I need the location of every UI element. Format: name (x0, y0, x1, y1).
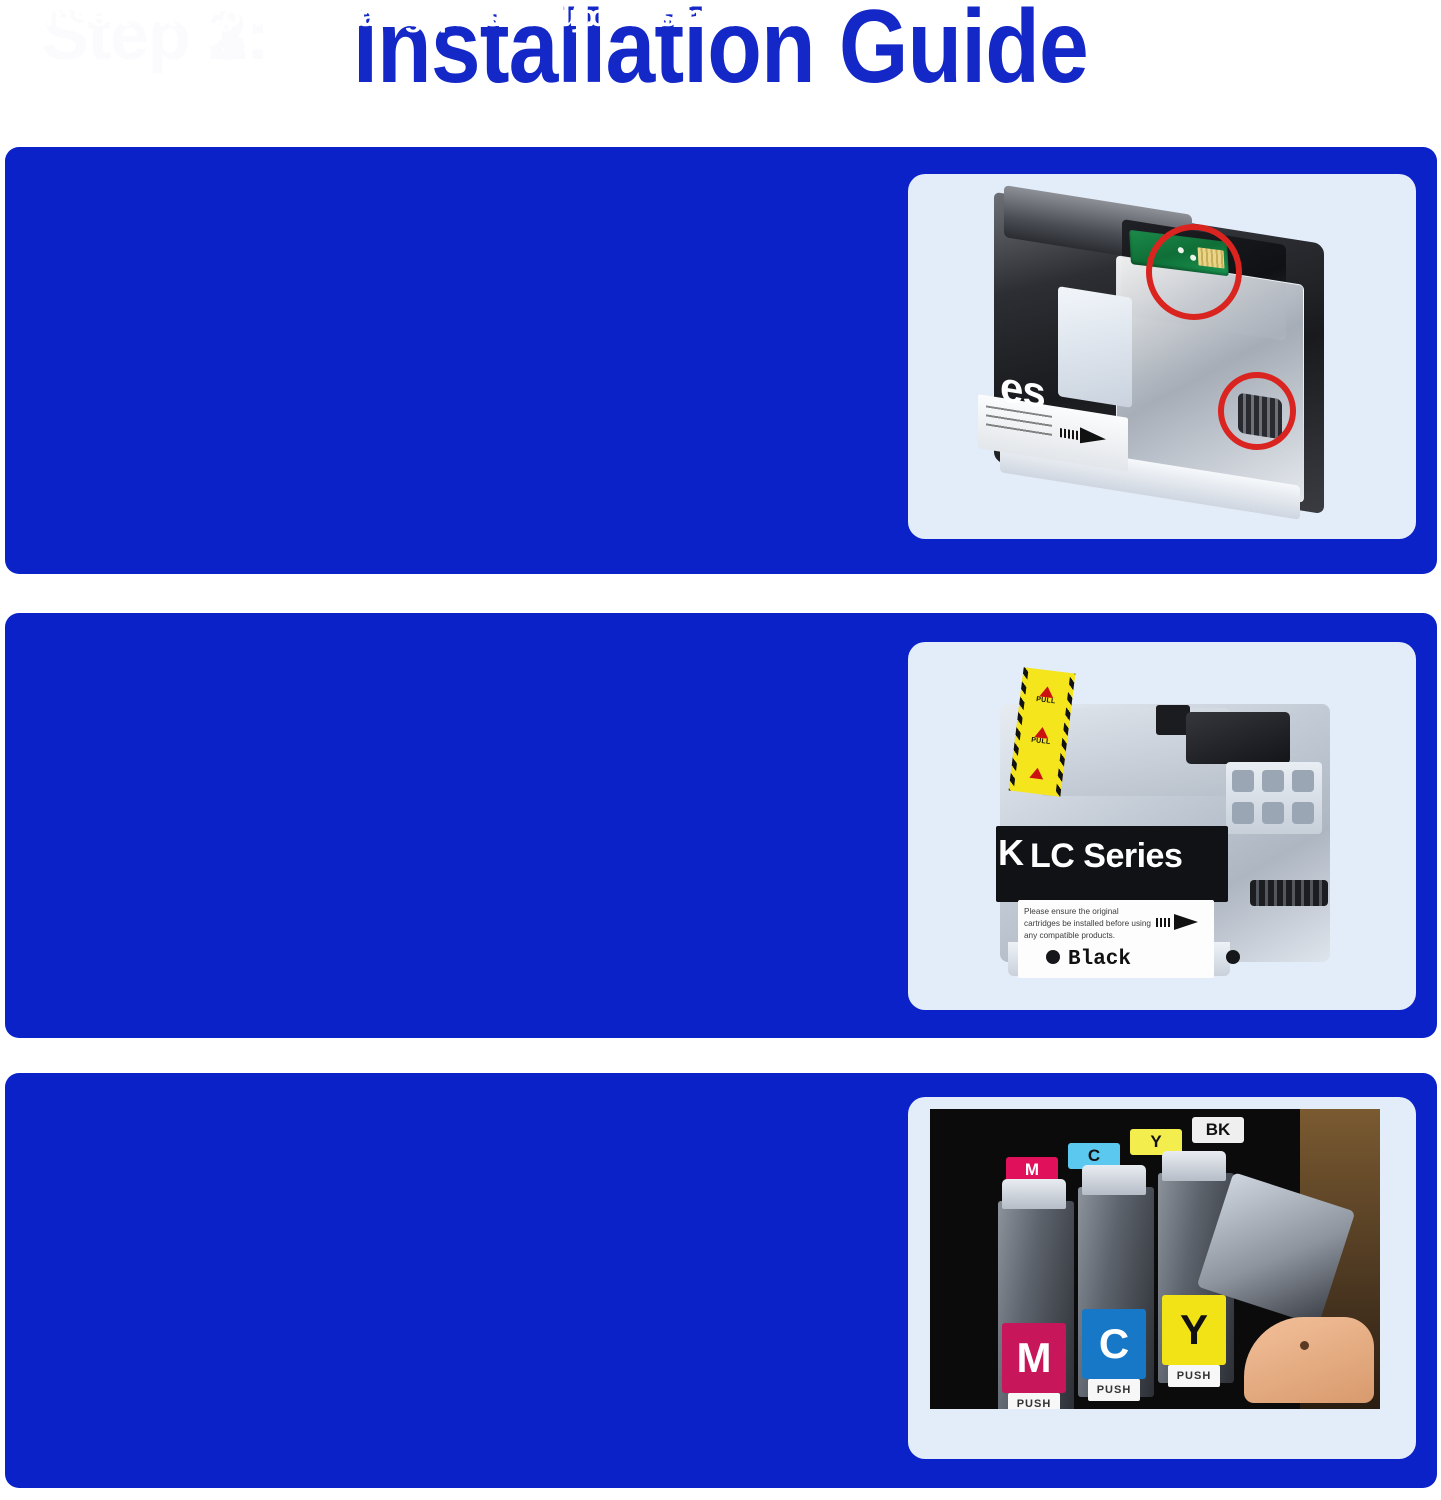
pull-label-1: PULL (1036, 696, 1056, 705)
cartridge-k-mark: K (998, 832, 1024, 874)
cartridge-letter-c: C (1082, 1309, 1146, 1379)
push-label-y: PUSH (1168, 1365, 1220, 1387)
cartridge-magenta: M PUSH (998, 1201, 1074, 1409)
label-arrow-icon (1060, 423, 1118, 449)
pull-arrow-3 (1029, 766, 1044, 779)
step-3-description: Insert into correspondingslot until it c… (45, 0, 831, 31)
cartridge-clear-window (1058, 286, 1132, 408)
warning-arrow-icon (1156, 914, 1208, 930)
cartridge-chip-photo: es (908, 174, 1416, 539)
cartridge-cap (1002, 1179, 1066, 1209)
slot-tag-bk: BK (1192, 1117, 1244, 1143)
slot-tag-row: M C Y BK (994, 1123, 1294, 1157)
cartridge-dark-top (1186, 712, 1290, 764)
printer-interior: M C Y BK M PUSH C PUSH Y (930, 1109, 1380, 1409)
printer-slots-photo: M C Y BK M PUSH C PUSH Y (908, 1097, 1416, 1459)
cartridge-cyan: C PUSH (1078, 1187, 1154, 1397)
step-2-image-card: PULL PULL K LC Series Please ensure the … (908, 642, 1416, 1010)
pull-label-2: PULL (1031, 736, 1051, 745)
push-label-c: PUSH (1088, 1379, 1140, 1401)
cartridge-vent-grid (1226, 762, 1322, 834)
cartridge-brand-text: LC Series (1030, 837, 1182, 876)
cartridge-dark-block (1156, 705, 1190, 735)
cartridge-warning-text: Please ensure the original cartridges be… (1024, 906, 1154, 942)
push-label-m: PUSH (1008, 1393, 1060, 1409)
cartridge-screw-left (1046, 950, 1060, 964)
skin-mark (1300, 1341, 1309, 1350)
pull-arrow-1: PULL (1036, 685, 1058, 705)
chip-highlight-circle (1146, 224, 1242, 320)
hand-finger (1244, 1317, 1374, 1403)
cartridge-letter-m: M (1002, 1323, 1066, 1393)
arrow-up-icon (1029, 766, 1044, 779)
installation-guide-page: Installation Guide Step 1: Do not touch … (0, 0, 1441, 1500)
cartridge-series-text: es (1000, 362, 1045, 417)
step-3-image-card: M C Y BK M PUSH C PUSH Y (908, 1097, 1416, 1459)
seal-highlight-circle (1218, 372, 1296, 450)
cartridge-color-text: Black (1068, 948, 1131, 971)
cartridge-screw-right (1226, 950, 1240, 964)
step-1-image-card: es (908, 174, 1416, 539)
pull-arrow-2: PULL (1031, 725, 1053, 745)
cartridge-letter-y: Y (1162, 1295, 1226, 1365)
cartridge-cap (1082, 1165, 1146, 1195)
lc-series-cartridge-photo: PULL PULL K LC Series Please ensure the … (908, 642, 1416, 1010)
cartridge-outlet-nozzle (1250, 880, 1328, 906)
cartridge-cap (1162, 1151, 1226, 1181)
